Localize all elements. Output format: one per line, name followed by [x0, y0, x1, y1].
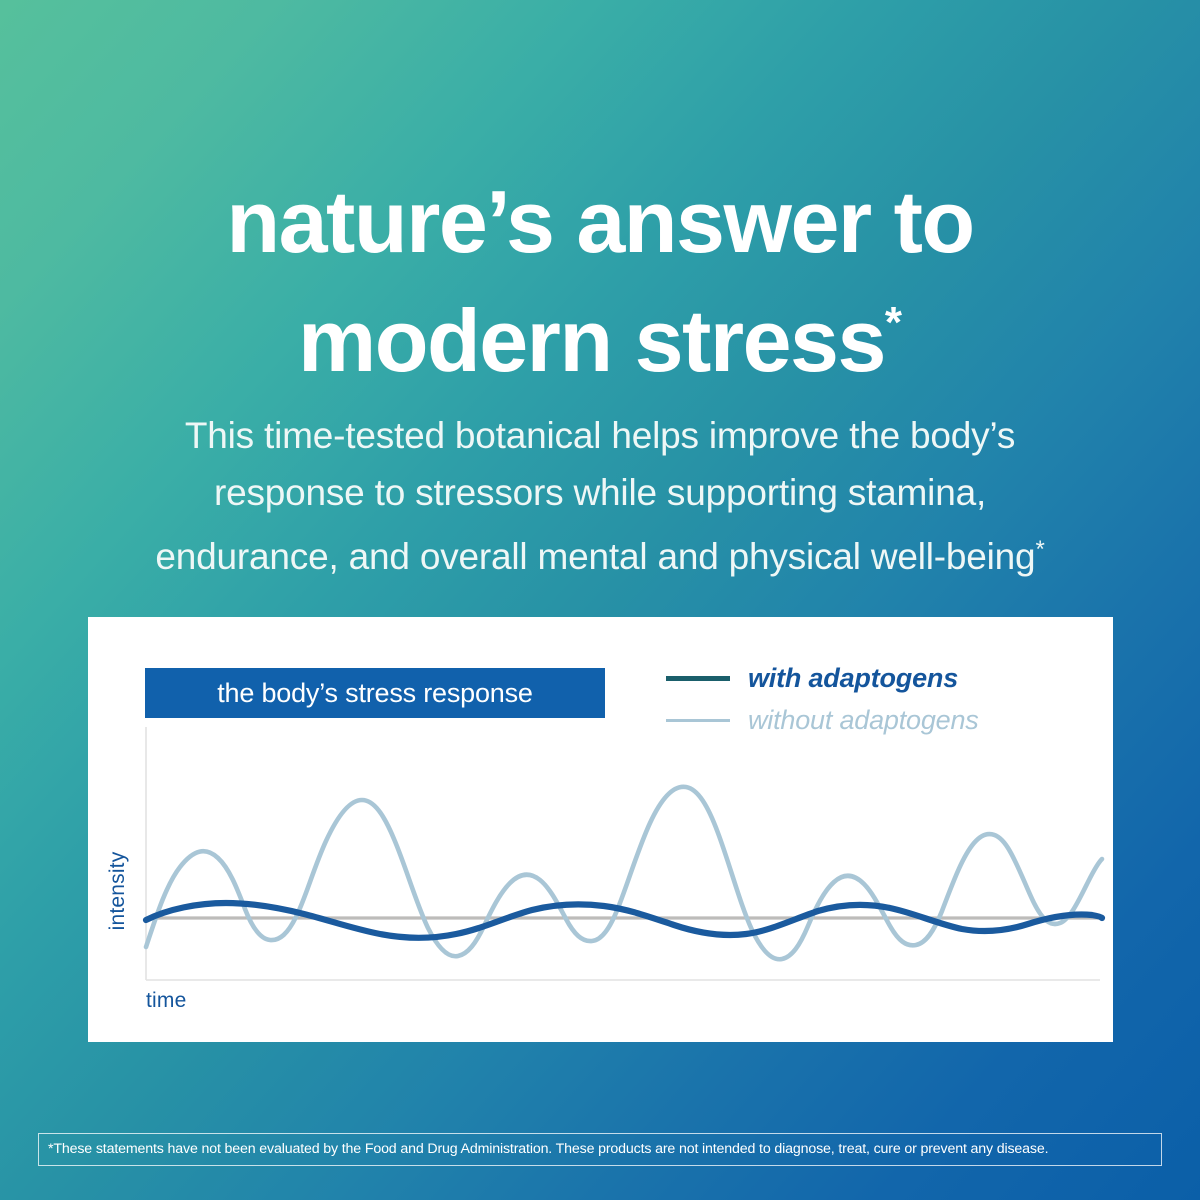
y-axis-label: intensity: [106, 831, 130, 951]
series-without-adaptogens: [146, 787, 1102, 959]
subtitle: This time-tested botanical helps improve…: [50, 407, 1150, 585]
legend-label-with-adaptogens: with adaptogens: [748, 663, 958, 694]
legend-line-swatch-without-adaptogens: [666, 719, 730, 722]
chart-title-badge: the body’s stress response: [145, 668, 605, 718]
headline-footnote-marker: *: [885, 298, 902, 347]
page-title: nature’s answer to modern stress*: [0, 171, 1200, 391]
fda-disclaimer-text: *These statements have not been evaluate…: [39, 1142, 1048, 1156]
poster-canvas: nature’s answer to modern stress* This t…: [0, 0, 1200, 1200]
chart-title-text: the body’s stress response: [217, 680, 532, 707]
headline-line-2-text: modern stress: [298, 291, 885, 390]
legend-item-with-adaptogens: with adaptogens: [666, 657, 1086, 699]
subtitle-line-2: response to stressors while supporting s…: [50, 464, 1150, 521]
headline-line-2: modern stress*: [0, 272, 1200, 391]
series-with-adaptogens: [146, 903, 1102, 938]
legend-item-without-adaptogens: without adaptogens: [666, 699, 1086, 741]
subtitle-line-3: endurance, and overall mental and physic…: [50, 521, 1150, 585]
headline-line-1: nature’s answer to: [0, 171, 1200, 272]
subtitle-footnote-marker: *: [1035, 536, 1044, 563]
subtitle-line-1: This time-tested botanical helps improve…: [50, 407, 1150, 464]
legend-label-without-adaptogens: without adaptogens: [748, 705, 979, 736]
chart-panel: intensity time the body’s stress respons…: [88, 617, 1113, 1042]
chart-legend: with adaptogens without adaptogens: [666, 657, 1086, 741]
subtitle-line-3-text: endurance, and overall mental and physic…: [155, 536, 1035, 577]
legend-line-swatch-with-adaptogens: [666, 676, 730, 681]
x-axis-label: time: [146, 989, 186, 1013]
fda-disclaimer-box: *These statements have not been evaluate…: [38, 1133, 1162, 1166]
